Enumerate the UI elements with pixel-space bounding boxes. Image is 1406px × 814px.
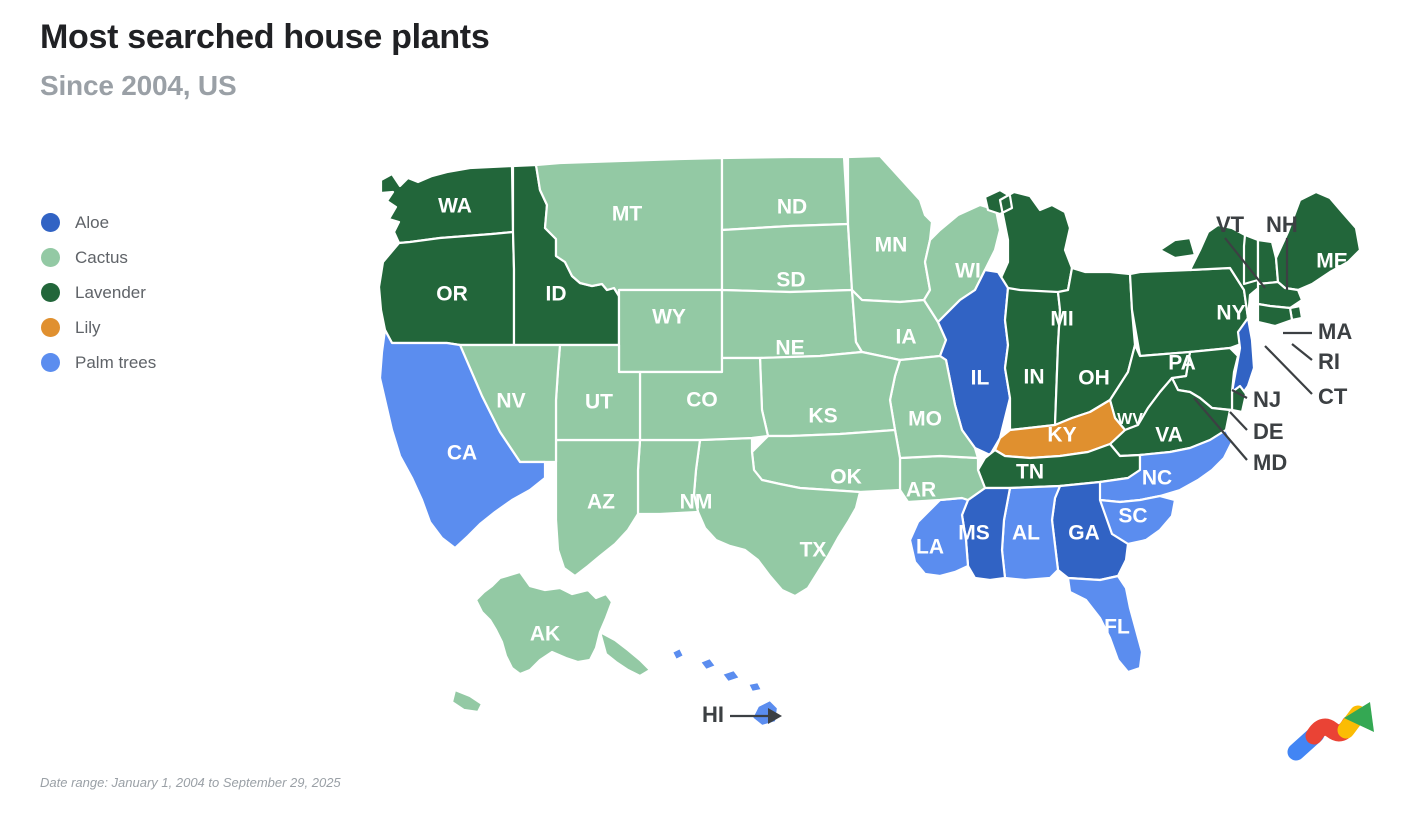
state-pa[interactable] <box>1130 268 1252 356</box>
state-wy[interactable] <box>619 290 722 372</box>
callout-label-ma: MA <box>1318 319 1352 344</box>
legend-item-lily[interactable]: Lily <box>41 310 156 345</box>
state-or[interactable] <box>379 232 514 345</box>
state-la[interactable] <box>910 498 968 576</box>
legend-swatch-lavender <box>41 283 60 302</box>
legend-item-lavender[interactable]: Lavender <box>41 275 156 310</box>
state-nd[interactable] <box>722 157 848 230</box>
state-ar[interactable] <box>900 456 985 502</box>
state-hi[interactable] <box>672 648 778 726</box>
legend-label-lavender: Lavender <box>75 284 146 301</box>
state-sd[interactable] <box>722 224 852 292</box>
legend-label-cactus: Cactus <box>75 249 128 266</box>
callout-label-de: DE <box>1253 419 1284 444</box>
legend-label-palm-trees: Palm trees <box>75 354 156 371</box>
callout-label-hi: HI <box>702 702 724 727</box>
state-in[interactable] <box>1005 288 1060 430</box>
callout-label-md: MD <box>1253 450 1287 475</box>
state-ne[interactable] <box>722 290 862 358</box>
callout-leader-de <box>1230 412 1247 430</box>
legend-swatch-aloe <box>41 213 60 232</box>
legend: Aloe Cactus Lavender Lily Palm trees <box>41 205 156 380</box>
state-mn[interactable] <box>848 156 932 302</box>
state-ks[interactable] <box>760 352 900 436</box>
page-title: Most searched house plants <box>40 18 489 57</box>
legend-swatch-palm-trees <box>41 353 60 372</box>
state-wa[interactable] <box>381 166 513 243</box>
state-ms[interactable] <box>962 488 1010 580</box>
state-az[interactable] <box>556 440 640 576</box>
date-range-footnote: Date range: January 1, 2004 to September… <box>40 775 341 790</box>
state-me[interactable] <box>1276 192 1360 290</box>
state-nh[interactable] <box>1258 240 1278 284</box>
callout-leader-ct <box>1265 346 1312 394</box>
legend-item-aloe[interactable]: Aloe <box>41 205 156 240</box>
legend-item-palm-trees[interactable]: Palm trees <box>41 345 156 380</box>
legend-label-aloe: Aloe <box>75 214 109 231</box>
legend-swatch-cactus <box>41 248 60 267</box>
google-trends-logo-icon <box>1286 696 1378 768</box>
state-nm[interactable] <box>638 440 700 514</box>
state-shapes <box>379 156 1360 726</box>
us-choropleth-map[interactable]: WAORIDMTNDSDWYMNIAWIMIILINOHPANYMENEMOKS… <box>0 0 1406 814</box>
state-vt[interactable] <box>1244 235 1258 284</box>
callout-label-ct: CT <box>1318 384 1348 409</box>
callout-label-ri: RI <box>1318 349 1340 374</box>
legend-label-lily: Lily <box>75 319 101 336</box>
callout-label-nj: NJ <box>1253 387 1281 412</box>
state-al[interactable] <box>1002 486 1060 580</box>
state-fl[interactable] <box>1068 576 1142 672</box>
state-de[interactable] <box>1232 386 1246 412</box>
legend-item-cactus[interactable]: Cactus <box>41 240 156 275</box>
legend-swatch-lily <box>41 318 60 337</box>
state-ct[interactable] <box>1258 304 1292 326</box>
state-ak[interactable] <box>452 572 650 712</box>
page-subtitle: Since 2004, US <box>40 70 236 102</box>
callout-leader-ri <box>1292 344 1312 360</box>
